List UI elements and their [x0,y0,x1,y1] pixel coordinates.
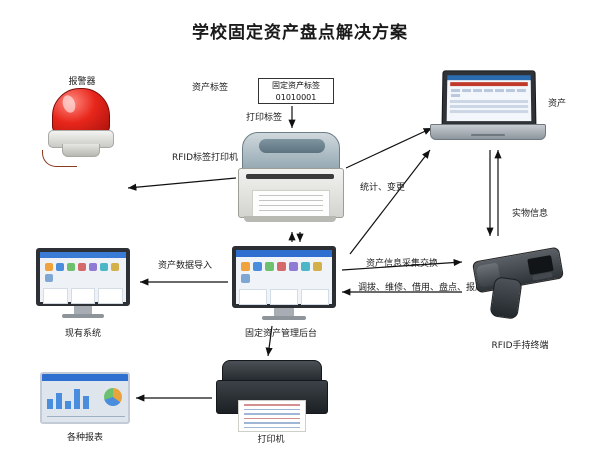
node-label-existing-system: 现有系统 [48,328,118,340]
laptop-screen [447,75,532,121]
laptop-keyboard [430,124,546,140]
alarm-wire [42,150,77,167]
asset-tag-box: 固定资产标签 01010001 [258,78,334,104]
printer-output-paper [238,400,306,432]
edge-label-physical-info: 实物信息 [512,208,548,220]
diagram-canvas: 学校固定资产盘点解决方案 [0,0,600,450]
label-printer-slot [246,174,334,179]
node-label-management-backend: 固定资产管理后台 [216,328,346,340]
asset-tag-title: 固定资产标签 [259,80,333,92]
alarm-dome [52,88,110,136]
laptop-icon [430,70,544,142]
node-label-handheld: RFID手持终端 [470,340,570,352]
node-label-reports: 各种报表 [48,432,122,444]
handheld-grip [489,276,522,320]
desktop-screen [232,246,336,308]
label-printer-icon [238,132,342,228]
asset-tag-caption: 资产标签 [192,82,228,94]
report-screen [40,372,130,424]
laptop-lid [442,70,537,128]
rfid-handheld-icon [466,244,566,326]
monitor-stand [74,306,92,314]
edge-label-statistics-change: 统计、变更 [360,182,405,194]
desktop-computer-icon [232,246,336,322]
label-printer-paper [252,190,330,218]
node-label-alarm: 报警器 [52,76,112,88]
node-label-label-printer: RFID标签打印机 [172,152,238,164]
desktop-foot [262,316,306,320]
report-pie-chart [104,388,122,406]
node-label-laptop: 资产 [548,98,566,110]
alarm-lamp-icon [44,88,118,168]
monitor-icon [36,248,130,320]
inkjet-printer-icon [216,360,326,432]
monitor-screen [36,248,130,306]
node-label-printer: 打印机 [236,434,306,446]
edge-label-print-label: 打印标签 [246,112,282,124]
report-screen-icon [40,372,130,428]
label-printer-window [259,139,325,153]
label-printer-feet [244,216,336,222]
monitor-foot [62,314,104,318]
edge-label-asset-data-import: 资产数据导入 [158,260,212,272]
desktop-stand [274,308,294,316]
asset-tag-code: 01010001 [259,92,333,104]
edge-label-collect-exchange: 资产信息采集交换 [366,258,438,270]
